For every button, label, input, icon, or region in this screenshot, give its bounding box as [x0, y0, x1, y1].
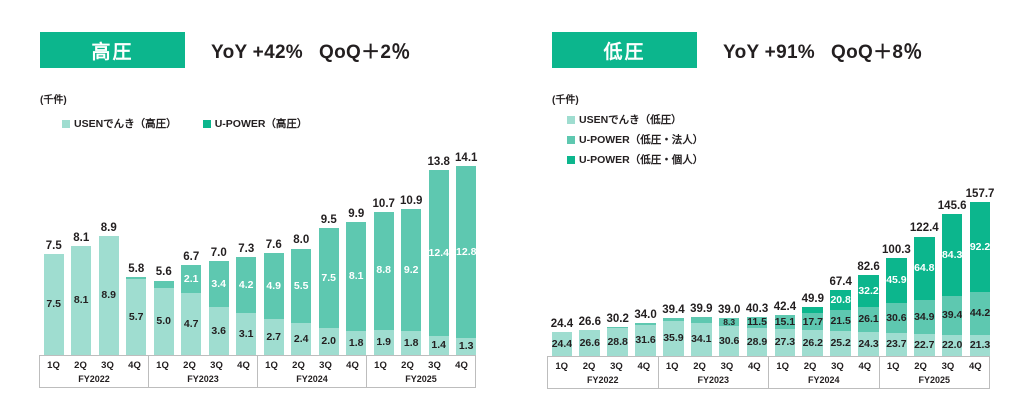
axis-quarter-label: 3Q: [603, 357, 630, 375]
bar-FY2023-2Q[interactable]: 34.139.9: [691, 317, 712, 356]
legend-item-upower-high: U-POWER（高圧）: [203, 116, 308, 131]
legend-item-usen-low: USENでんき（低圧）: [567, 112, 703, 127]
axis-quarter-label: 4Q: [121, 356, 148, 374]
bar-segment-0: 22.7: [914, 334, 935, 356]
axis-quarter-label: 1Q: [258, 356, 285, 374]
axis-quarter-label: 1Q: [880, 357, 907, 375]
chart-high-voltage: 7.57.58.18.18.98.95.75.85.05.64.72.16.73…: [40, 150, 480, 355]
axis-quarter-label: 4Q: [230, 356, 257, 374]
bar-FY2024-3Q[interactable]: 2.07.59.5: [319, 228, 339, 355]
bar-total-label: 39.4: [662, 304, 684, 316]
axis-quarter-label: 4Q: [851, 357, 878, 375]
bar-total-label: 42.4: [774, 301, 796, 313]
panel-low-voltage: 低圧 YoY +91%QoQ＋8％ (千件) USENでんき（低圧） U-POW…: [512, 0, 1024, 402]
axis-quarter-label: 2Q: [394, 356, 421, 374]
bar-total-label: 67.4: [829, 276, 851, 288]
bar-total-label: 82.6: [857, 261, 879, 273]
bar-segment-0: 34.1: [691, 323, 712, 356]
bar-total-label: 26.6: [579, 316, 601, 328]
legend-swatch-icon: [62, 120, 70, 128]
bar-segment-1: [154, 281, 174, 288]
bar-segment-0: 2.4: [291, 323, 311, 355]
unit-label-low: (千件): [552, 91, 579, 106]
bar-FY2023-4Q[interactable]: 3.14.27.3: [236, 257, 256, 355]
bar-total-label: 9.5: [321, 214, 337, 226]
bar-FY2022-2Q[interactable]: 8.18.1: [71, 246, 91, 355]
x-axis-high-voltage: 1Q2Q3Q4QFY20221Q2Q3Q4QFY20231Q2Q3Q4QFY20…: [40, 355, 480, 388]
kpi-yoy-low: YoY +91%: [723, 42, 815, 63]
bar-FY2025-2Q[interactable]: 1.89.210.9: [401, 209, 421, 355]
legend-label: USENでんき（高圧）: [74, 116, 177, 131]
legend-swatch-icon: [203, 120, 211, 128]
bar-segment-1: 39.4: [942, 296, 963, 334]
bar-total-label: 30.2: [606, 313, 628, 325]
legend-item-upower-personal: U-POWER（低圧・個人）: [567, 152, 703, 167]
bar-segment-1: 11.5: [747, 317, 768, 328]
bar-segment-1: 7.5: [319, 228, 339, 329]
bar-total-label: 6.7: [183, 251, 199, 263]
axis-quarter-label: 4Q: [630, 357, 657, 375]
axis-group-FY2024: 1Q2Q3Q4QFY2024: [257, 355, 367, 388]
bar-segment-0: 22.0: [942, 335, 963, 356]
bar-total-label: 14.1: [455, 152, 477, 164]
bar-FY2022-1Q[interactable]: 24.424.4: [552, 332, 573, 356]
bar-total-label: 100.3: [882, 244, 911, 256]
bar-total-label: 10.7: [373, 198, 395, 210]
badge-low-voltage: 低圧: [552, 32, 697, 68]
bar-segment-1: 2.1: [181, 265, 201, 293]
bar-FY2024-1Q[interactable]: 2.74.97.6: [264, 253, 284, 355]
bar-segment-1: 21.5: [830, 310, 851, 331]
bar-total-label: 10.9: [400, 195, 422, 207]
bar-total-label: 7.5: [46, 240, 62, 252]
bar-total-label: 9.9: [348, 208, 364, 220]
bar-total-label: 39.9: [690, 303, 712, 315]
legend-swatch-icon: [567, 116, 575, 124]
bar-segment-0: 23.7: [886, 333, 907, 356]
axis-group-FY2023: 1Q2Q3Q4QFY2023: [148, 355, 258, 388]
axis-group-FY2025: 1Q2Q3Q4QFY2025: [879, 356, 991, 389]
axis-quarter-label: 4Q: [339, 356, 366, 374]
bar-segment-1: 17.7: [802, 313, 823, 330]
bar-FY2025-4Q[interactable]: 1.312.814.1: [456, 166, 476, 355]
legend-high-voltage: USENでんき（高圧） U-POWER（高圧）: [62, 116, 307, 131]
axis-fiscal-year-label: FY2025: [367, 374, 475, 387]
axis-group-FY2022: 1Q2Q3Q4QFY2022: [547, 356, 659, 389]
bar-FY2024-4Q[interactable]: 1.88.19.9: [346, 222, 366, 355]
bar-FY2025-3Q[interactable]: 22.039.484.3145.6: [942, 214, 963, 356]
bar-segment-1: 4.2: [236, 257, 256, 313]
bar-segment-0: 4.7: [181, 293, 201, 355]
bar-segment-1: 8.1: [346, 222, 366, 331]
legend-label: U-POWER（低圧・法人）: [579, 132, 703, 147]
axis-quarter-label: 3Q: [94, 356, 121, 374]
bar-segment-0: 1.8: [346, 331, 366, 355]
bar-segment-1: 34.9: [914, 300, 935, 334]
axis-quarter-label: 2Q: [176, 356, 203, 374]
bar-total-label: 122.4: [910, 222, 939, 234]
axis-quarter-label: 4Q: [962, 357, 989, 375]
bar-FY2022-1Q[interactable]: 7.57.5: [44, 254, 64, 355]
kpi-high-voltage: YoY +42%QoQ＋2％: [211, 37, 411, 64]
bar-segment-2: 20.8: [830, 290, 851, 310]
axis-quarter-label: 3Q: [934, 357, 961, 375]
kpi-qoq-low: QoQ＋8％: [831, 42, 923, 63]
axis-quarter-label: 2Q: [686, 357, 713, 375]
bar-segment-0: 1.8: [401, 331, 421, 355]
bar-segment-0: 5.0: [154, 288, 174, 355]
legend-low-voltage: USENでんき（低圧） U-POWER（低圧・法人） U-POWER（低圧・個人…: [567, 112, 703, 172]
axis-quarter-label: 4Q: [448, 356, 475, 374]
axis-group-FY2023: 1Q2Q3Q4QFY2023: [658, 356, 770, 389]
legend-label: U-POWER（高圧）: [215, 116, 308, 131]
axis-quarter-label: 3Q: [312, 356, 339, 374]
bar-segment-0: 2.0: [319, 328, 339, 355]
axis-quarter-label: 4Q: [741, 357, 768, 375]
legend-label: U-POWER（低圧・個人）: [579, 152, 703, 167]
bar-segment-0: 30.6: [719, 326, 740, 356]
bar-total-label: 40.3: [746, 303, 768, 315]
kpi-yoy-high: YoY +42%: [211, 42, 303, 63]
axis-fiscal-year-label: FY2024: [769, 375, 879, 388]
axis-quarter-label: 3Q: [421, 356, 448, 374]
bar-segment-1: 8.8: [374, 212, 394, 330]
legend-item-upower-corp: U-POWER（低圧・法人）: [567, 132, 703, 147]
bar-segment-1: 3.4: [209, 261, 229, 307]
bar-FY2023-4Q[interactable]: 28.911.540.3: [747, 317, 768, 356]
bar-segment-1: 4.9: [264, 253, 284, 319]
axis-group-FY2022: 1Q2Q3Q4QFY2022: [39, 355, 149, 388]
bar-segment-0: 1.3: [456, 338, 476, 355]
bar-FY2022-4Q[interactable]: 31.634.0: [635, 323, 656, 356]
axis-group-FY2024: 1Q2Q3Q4QFY2024: [768, 356, 880, 389]
badge-high-voltage: 高圧: [40, 32, 185, 68]
bar-segment-0: 8.1: [71, 246, 91, 355]
bar-segment-0: 3.1: [236, 313, 256, 355]
bar-segment-0: 21.3: [970, 335, 991, 356]
axis-quarter-label: 1Q: [769, 357, 796, 375]
bar-segment-2: 84.3: [942, 214, 963, 296]
bar-FY2022-4Q[interactable]: 5.75.8: [126, 277, 146, 355]
bar-segment-1: 8.3: [719, 318, 740, 326]
bar-group: 7.57.58.18.18.98.95.75.85.05.64.72.16.73…: [40, 150, 480, 355]
header-high-voltage: 高圧 YoY +42%QoQ＋2％: [40, 32, 411, 68]
bar-total-label: 5.8: [128, 263, 144, 275]
bar-FY2022-3Q[interactable]: 8.98.9: [99, 236, 119, 355]
bar-FY2024-1Q[interactable]: 27.315.142.4: [775, 315, 796, 356]
bar-segment-2: 32.2: [858, 275, 879, 306]
axis-fiscal-year-label: FY2023: [149, 374, 257, 387]
axis-quarter-label: 3Q: [713, 357, 740, 375]
axis-quarter-label: 3Q: [824, 357, 851, 375]
bar-FY2024-3Q[interactable]: 25.221.520.867.4: [830, 290, 851, 356]
legend-label: USENでんき（低圧）: [579, 112, 682, 127]
bar-segment-0: 28.8: [607, 328, 628, 356]
bar-segment-0: 28.9: [747, 328, 768, 356]
bar-FY2023-3Q[interactable]: 3.63.47.0: [209, 261, 229, 355]
kpi-low-voltage: YoY +91%QoQ＋8％: [723, 37, 923, 64]
bar-total-label: 5.6: [156, 266, 172, 278]
bar-segment-0: 8.9: [99, 236, 119, 355]
bar-FY2022-3Q[interactable]: 28.830.2: [607, 327, 628, 356]
bar-total-label: 7.6: [266, 239, 282, 251]
bar-FY2025-1Q[interactable]: 1.98.810.7: [374, 212, 394, 355]
bar-segment-1: 9.2: [401, 209, 421, 331]
bar-segment-1: 12.8: [456, 166, 476, 338]
axis-quarter-label: 3Q: [203, 356, 230, 374]
bar-total-label: 24.4: [551, 318, 573, 330]
bar-segment-0: 27.3: [775, 329, 796, 356]
bar-FY2023-1Q[interactable]: 5.05.6: [154, 280, 174, 355]
bar-segment-0: 26.6: [579, 330, 600, 356]
axis-quarter-label: 2Q: [285, 356, 312, 374]
bar-segment-2: 92.2: [970, 202, 991, 292]
bar-segment-1: 5.5: [291, 249, 311, 323]
axis-quarter-label: 2Q: [796, 357, 823, 375]
bar-FY2024-4Q[interactable]: 24.326.132.282.6: [858, 275, 879, 356]
legend-item-usen-high: USENでんき（高圧）: [62, 116, 177, 131]
axis-quarter-label: 2Q: [67, 356, 94, 374]
bar-segment-1: 44.2: [970, 292, 991, 335]
axis-fiscal-year-label: FY2022: [548, 375, 658, 388]
kpi-qoq-high: QoQ＋2％: [319, 42, 411, 63]
bar-total-label: 157.7: [966, 188, 995, 200]
bar-FY2025-3Q[interactable]: 1.412.413.8: [429, 170, 449, 355]
bar-total-label: 8.9: [101, 222, 117, 234]
axis-quarter-label: 1Q: [659, 357, 686, 375]
axis-quarter-label: 2Q: [575, 357, 602, 375]
bar-total-label: 34.0: [634, 309, 656, 321]
axis-quarter-label: 1Q: [40, 356, 67, 374]
bar-segment-0: 26.2: [802, 330, 823, 356]
bar-total-label: 8.1: [73, 232, 89, 244]
bar-segment-2: 64.8: [914, 237, 935, 300]
bar-segment-0: 3.6: [209, 307, 229, 355]
axis-quarter-label: 2Q: [907, 357, 934, 375]
bar-segment-0: 25.2: [830, 331, 851, 356]
bar-total-label: 49.9: [802, 293, 824, 305]
bar-total-label: 7.0: [211, 247, 227, 259]
x-axis-low-voltage: 1Q2Q3Q4QFY20221Q2Q3Q4QFY20231Q2Q3Q4QFY20…: [548, 356, 994, 389]
bar-total-label: 7.3: [238, 243, 254, 255]
bar-segment-0: 24.4: [552, 332, 573, 356]
panel-high-voltage: 高圧 YoY +42%QoQ＋2％ (千件) USENでんき（高圧） U-POW…: [0, 0, 512, 402]
bar-group: 24.424.426.626.628.830.231.634.035.939.4…: [548, 186, 994, 356]
bar-segment-0: 35.9: [663, 321, 684, 356]
bar-FY2024-2Q[interactable]: 26.217.749.9: [802, 307, 823, 356]
bar-segment-1: 26.1: [858, 307, 879, 332]
bar-segment-0: 1.4: [429, 336, 449, 355]
bar-segment-0: 1.9: [374, 330, 394, 355]
axis-fiscal-year-label: FY2023: [659, 375, 769, 388]
bar-segment-0: 31.6: [635, 325, 656, 356]
bar-FY2025-4Q[interactable]: 21.344.292.2157.7: [970, 202, 991, 356]
bar-segment-2: 45.9: [886, 258, 907, 303]
bar-FY2022-2Q[interactable]: 26.626.6: [579, 330, 600, 356]
bar-total-label: 13.8: [428, 156, 450, 168]
header-low-voltage: 低圧 YoY +91%QoQ＋8％: [552, 32, 923, 68]
unit-label-high: (千件): [40, 91, 67, 106]
bar-segment-0: 2.7: [264, 319, 284, 355]
bar-FY2023-3Q[interactable]: 30.68.339.0: [719, 318, 740, 356]
bar-total-label: 39.0: [718, 304, 740, 316]
bar-segment-1: 30.6: [886, 303, 907, 333]
bar-FY2025-2Q[interactable]: 22.734.964.8122.4: [914, 236, 935, 356]
bar-segment-0: 5.7: [126, 279, 146, 355]
bar-segment-0: 7.5: [44, 254, 64, 355]
bar-FY2023-2Q[interactable]: 4.72.16.7: [181, 265, 201, 355]
bar-total-label: 8.0: [293, 234, 309, 246]
bar-total-label: 145.6: [938, 200, 967, 212]
bar-segment-1: 12.4: [429, 170, 449, 336]
legend-swatch-icon: [567, 156, 575, 164]
axis-quarter-label: 1Q: [149, 356, 176, 374]
chart-low-voltage: 24.424.426.626.628.830.231.634.035.939.4…: [548, 186, 994, 356]
axis-quarter-label: 1Q: [367, 356, 394, 374]
axis-fiscal-year-label: FY2025: [880, 375, 990, 388]
bar-FY2025-1Q[interactable]: 23.730.645.9100.3: [886, 258, 907, 356]
bar-FY2024-2Q[interactable]: 2.45.58.0: [291, 248, 311, 355]
bar-segment-0: 24.3: [858, 332, 879, 356]
axis-group-FY2025: 1Q2Q3Q4QFY2025: [366, 355, 476, 388]
axis-fiscal-year-label: FY2022: [40, 374, 148, 387]
bar-segment-1: 15.1: [775, 315, 796, 330]
bar-FY2023-1Q[interactable]: 35.939.4: [663, 318, 684, 356]
legend-swatch-icon: [567, 136, 575, 144]
axis-quarter-label: 1Q: [548, 357, 575, 375]
axis-fiscal-year-label: FY2024: [258, 374, 366, 387]
